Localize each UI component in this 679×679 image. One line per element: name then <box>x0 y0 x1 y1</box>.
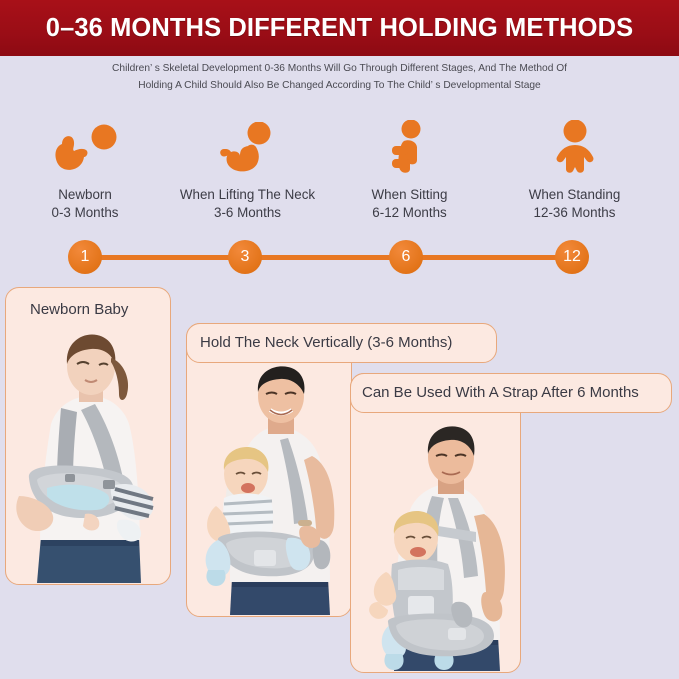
card-title: Hold The Neck Vertically (3-6 Months) <box>200 334 452 351</box>
father-holding-toddler-facing-out-photo <box>188 364 350 615</box>
stage-title: When Lifting The Neck <box>180 187 315 202</box>
stage-title: When Sitting <box>372 187 448 202</box>
stage-age: 12-36 Months <box>534 205 616 220</box>
stage-age: 3-6 Months <box>214 205 281 220</box>
age-timeline: 1 3 6 12 <box>0 240 679 276</box>
infographic-poster: 0–36 MONTHS DIFFERENT HOLDING METHODS Ch… <box>0 0 679 679</box>
baby-standing-icon <box>487 118 662 176</box>
baby-sitting-icon <box>337 118 482 176</box>
stage-label: When Lifting The Neck 3-6 Months <box>160 186 335 221</box>
stage-sitting: When Sitting 6-12 Months <box>337 118 482 221</box>
father-holding-toddler-with-shoulder-straps-photo <box>352 414 519 671</box>
subtitle-line-1: Children’ s Skeletal Development 0-36 Mo… <box>60 60 619 77</box>
stage-label: When Sitting 6-12 Months <box>337 186 482 221</box>
hold-neck-vertically-card <box>186 323 352 617</box>
stage-label: When Standing 12-36 Months <box>487 186 662 221</box>
subtitle-block: Children’ s Skeletal Development 0-36 Mo… <box>0 60 679 94</box>
stage-icon-row: Newborn 0-3 Months When Lifting The Neck… <box>0 118 679 223</box>
stage-newborn: Newborn 0-3 Months <box>10 118 160 221</box>
baby-lying-icon <box>10 118 160 176</box>
mother-holding-newborn-in-carrier-photo <box>7 328 169 583</box>
timeline-rail <box>85 255 572 260</box>
hold-neck-photo <box>188 364 350 615</box>
newborn-baby-card: Newborn Baby <box>5 287 171 585</box>
card-title: Can Be Used With A Strap After 6 Months <box>362 384 639 401</box>
stage-title: Newborn <box>58 187 112 202</box>
stage-label: Newborn 0-3 Months <box>10 186 160 221</box>
stage-age: 6-12 Months <box>372 205 446 220</box>
timeline-node-12: 12 <box>555 240 589 274</box>
card-title: Newborn Baby <box>30 301 128 318</box>
stage-age: 0-3 Months <box>52 205 119 220</box>
baby-lifting-neck-icon <box>160 118 335 176</box>
timeline-node-1: 1 <box>68 240 102 274</box>
timeline-node-3: 3 <box>228 240 262 274</box>
strap-usage-photo <box>352 414 519 671</box>
page-title: 0–36 MONTHS DIFFERENT HOLDING METHODS <box>46 14 633 43</box>
stage-standing: When Standing 12-36 Months <box>487 118 662 221</box>
header-banner: 0–36 MONTHS DIFFERENT HOLDING METHODS <box>0 0 679 56</box>
stage-title: When Standing <box>529 187 621 202</box>
newborn-baby-photo <box>7 328 169 583</box>
timeline-node-6: 6 <box>389 240 423 274</box>
subtitle-line-2: Holding A Child Should Also Be Changed A… <box>60 77 619 94</box>
strap-after-6-months-card <box>350 373 521 673</box>
stage-lifting-neck: When Lifting The Neck 3-6 Months <box>160 118 335 221</box>
